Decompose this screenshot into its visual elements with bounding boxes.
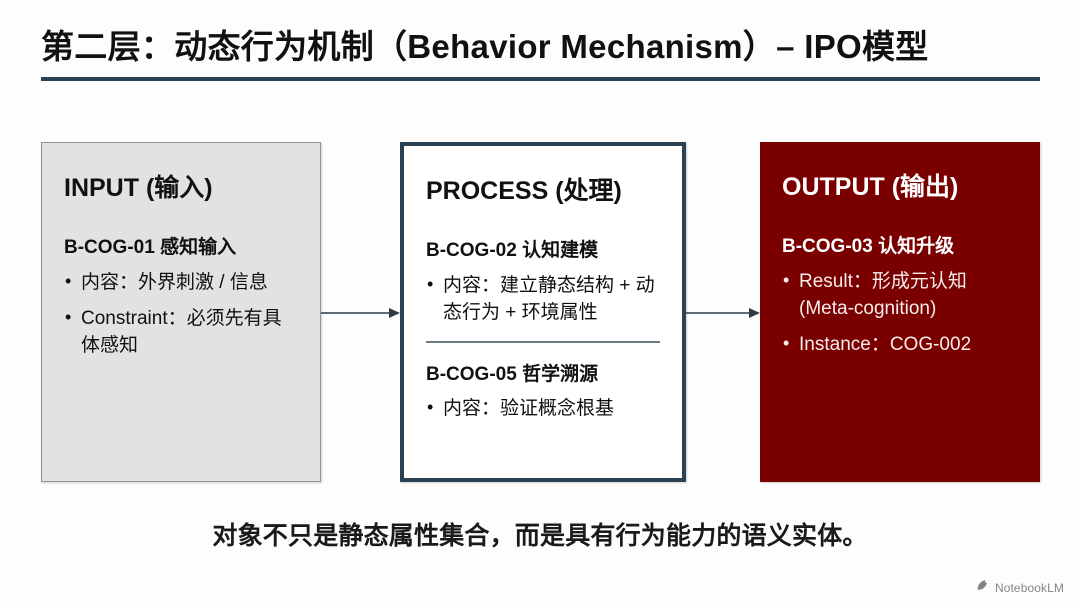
process-section-heading-2: B-COG-05 哲学溯源 bbox=[426, 363, 660, 388]
input-section-b-cog-01: B-COG-01 感知输入 内容：外界刺激 / 信息 Constraint：必须… bbox=[64, 236, 298, 360]
notebooklm-watermark-label: NotebookLM bbox=[995, 581, 1064, 595]
arrow-input-to-process-icon bbox=[321, 306, 401, 320]
notebooklm-watermark: NotebookLM bbox=[976, 578, 1064, 597]
arrow-process-to-output-icon bbox=[686, 306, 761, 320]
process-bullet-list-1: 内容：建立静态结构 + 动态行为 + 环境属性 bbox=[426, 273, 660, 327]
input-bullet-list: 内容：外界刺激 / 信息 Constraint：必须先有具体感知 bbox=[64, 270, 298, 360]
list-item: Instance：COG-002 bbox=[782, 332, 1018, 359]
output-box: OUTPUT (输出) B-COG-03 认知升级 Result：形成元认知 (… bbox=[760, 142, 1040, 482]
output-bullet-list: Result：形成元认知 (Meta-cognition) Instance：C… bbox=[782, 269, 1018, 359]
list-item: 内容：建立静态结构 + 动态行为 + 环境属性 bbox=[426, 273, 660, 327]
process-box: PROCESS (处理) B-COG-02 认知建模 内容：建立静态结构 + 动… bbox=[400, 142, 686, 482]
process-section-b-cog-05: B-COG-05 哲学溯源 内容：验证概念根基 bbox=[426, 363, 660, 424]
slide-caption: 对象不只是静态属性集合，而是具有行为能力的语义实体。 bbox=[0, 516, 1080, 552]
process-section-heading-1: B-COG-02 认知建模 bbox=[426, 239, 660, 264]
input-box: INPUT (输入) B-COG-01 感知输入 内容：外界刺激 / 信息 Co… bbox=[41, 142, 321, 482]
process-section-divider bbox=[426, 341, 660, 343]
slide-canvas: 第二层：动态行为机制（Behavior Mechanism）– IPO模型 IN… bbox=[0, 0, 1080, 607]
output-section-b-cog-03: B-COG-03 认知升级 Result：形成元认知 (Meta-cogniti… bbox=[782, 235, 1018, 359]
title-underline-rule bbox=[41, 77, 1040, 81]
input-section-heading: B-COG-01 感知输入 bbox=[64, 236, 298, 261]
page-title: 第二层：动态行为机制（Behavior Mechanism）– IPO模型 bbox=[41, 26, 1040, 67]
output-section-heading: B-COG-03 认知升级 bbox=[782, 235, 1018, 260]
output-box-title: OUTPUT (输出) bbox=[782, 172, 1018, 202]
notebooklm-logo-icon bbox=[976, 578, 990, 597]
list-item: 内容：外界刺激 / 信息 bbox=[64, 270, 298, 297]
process-bullet-list-2: 内容：验证概念根基 bbox=[426, 396, 660, 423]
list-item: Constraint：必须先有具体感知 bbox=[64, 306, 298, 360]
input-box-title: INPUT (输入) bbox=[64, 173, 298, 203]
process-section-b-cog-02: B-COG-02 认知建模 内容：建立静态结构 + 动态行为 + 环境属性 bbox=[426, 239, 660, 327]
list-item: 内容：验证概念根基 bbox=[426, 396, 660, 423]
list-item: Result：形成元认知 (Meta-cognition) bbox=[782, 269, 1018, 323]
process-box-title: PROCESS (处理) bbox=[426, 176, 660, 206]
title-block: 第二层：动态行为机制（Behavior Mechanism）– IPO模型 bbox=[41, 26, 1040, 81]
